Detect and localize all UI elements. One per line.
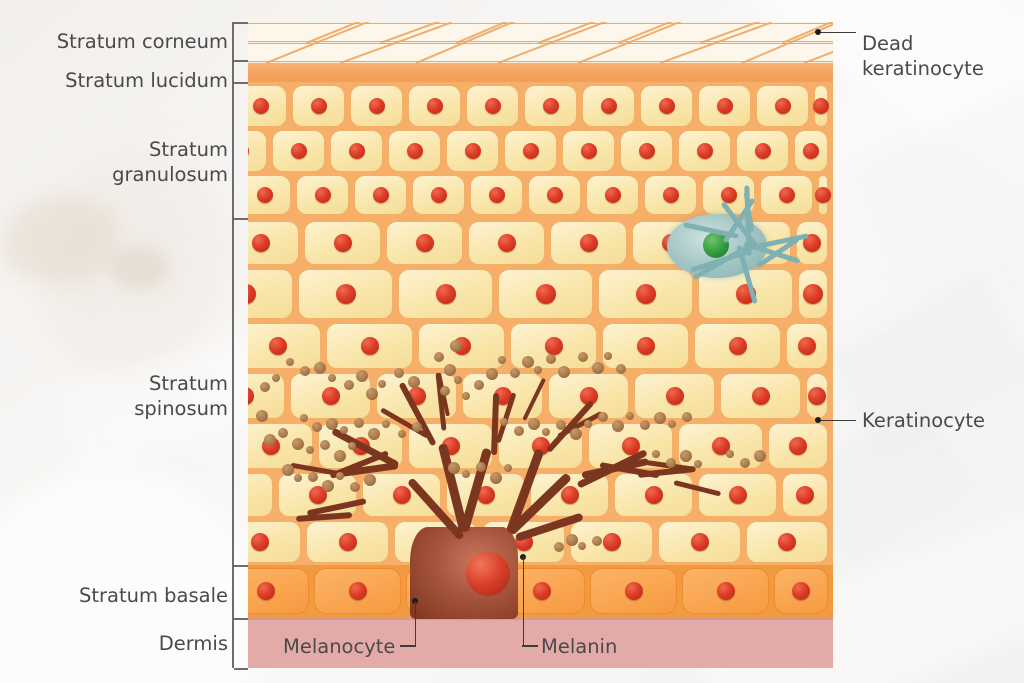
cell-nucleus: [253, 98, 269, 114]
cell-nucleus: [498, 234, 516, 252]
melanin-granule: [652, 450, 660, 458]
melanin-granule: [450, 340, 462, 352]
melanin-granule: [598, 412, 608, 422]
melanin-granule: [306, 446, 314, 454]
melanin-granule: [498, 356, 506, 364]
label-dermis: Dermis: [159, 631, 228, 656]
melanin-granule: [654, 412, 666, 424]
cell-nucleus: [407, 143, 423, 159]
melanin-granule: [356, 370, 368, 382]
callout-melanocyte: Melanocyte: [283, 634, 395, 659]
melanocyte-dendrite: [460, 448, 492, 533]
melanin-granule: [626, 412, 634, 420]
cell-nucleus: [336, 284, 356, 304]
bracket-dermis: [232, 618, 248, 668]
melanin-granule: [340, 426, 348, 434]
melanin-granule: [476, 462, 486, 472]
melanin-granule: [514, 426, 524, 436]
cell-nucleus: [523, 143, 539, 159]
melanin-granule: [334, 450, 346, 462]
cell-nucleus: [436, 284, 456, 304]
cell-nucleus: [543, 98, 559, 114]
melanin-granule: [668, 420, 676, 428]
melanin-granule: [604, 352, 612, 360]
melanin-granule: [378, 380, 386, 388]
bracket-stratum-lucidum: [232, 60, 248, 82]
melanin-granule: [314, 362, 326, 374]
cell-nucleus: [431, 187, 447, 203]
melanocyte-leader-vertical: [415, 601, 417, 646]
melanin-granule: [486, 368, 498, 380]
melanin-leader-vertical: [523, 557, 525, 645]
cell-nucleus: [349, 143, 365, 159]
melanin-granule: [300, 414, 308, 422]
melanin-granule: [286, 358, 294, 366]
melanin-granule: [336, 472, 344, 480]
keratinocyte-leader-line: [821, 420, 856, 422]
cell-nucleus: [369, 98, 385, 114]
keratinocyte: [248, 130, 267, 172]
melanocyte: [248, 322, 833, 622]
cell-nucleus: [536, 284, 556, 304]
melanin-granule: [326, 418, 338, 430]
melanin-granule: [666, 458, 676, 468]
melanin-granule: [754, 450, 766, 462]
melanin-granule: [546, 354, 556, 364]
label-stratum-lucidum: Stratum lucidum: [65, 68, 228, 93]
melanin-granule: [282, 464, 294, 476]
melanin-granule: [292, 438, 304, 450]
melanin-granule: [694, 460, 702, 468]
label-stratum-corneum: Stratum corneum: [57, 29, 228, 54]
cell-nucleus: [775, 98, 791, 114]
melanin-granule: [272, 374, 280, 382]
melanin-granule: [260, 382, 270, 392]
cell-nucleus: [427, 98, 443, 114]
melanin-granule: [584, 420, 592, 428]
melanin-granule: [264, 434, 276, 446]
callout-keratinocyte: Keratinocyte: [862, 408, 985, 433]
melanin-granule: [448, 462, 460, 474]
melanin-granule: [578, 352, 588, 362]
cell-nucleus: [291, 143, 307, 159]
melanin-granule: [278, 428, 288, 438]
bracket-stratum-corneum: [232, 22, 248, 60]
bracket-stratum-granulosum: [232, 82, 248, 218]
melanin-granule: [578, 542, 586, 550]
cell-nucleus: [813, 98, 829, 114]
melanin-leader-horizontal: [522, 645, 538, 647]
melanin-granule: [740, 458, 750, 468]
melanin-granule: [528, 418, 540, 430]
melanin-granule: [510, 368, 520, 378]
melanin-granule: [350, 482, 360, 492]
melanin-granule: [682, 412, 692, 422]
cell-nucleus: [601, 98, 617, 114]
melanocyte-dendrite: [296, 512, 352, 522]
melanin-granule: [368, 428, 380, 440]
melanin-granule: [462, 470, 470, 478]
melanin-granule: [726, 450, 734, 458]
melanin-granule: [444, 364, 456, 376]
melanin-granule: [366, 388, 378, 400]
melanin-granule: [454, 376, 462, 384]
cell-nucleus: [416, 234, 434, 252]
melanocyte-dendrite: [522, 378, 546, 421]
dead-keratinocyte-leader-line: [821, 32, 856, 34]
melanin-granule: [364, 474, 376, 486]
melanocyte-nucleus: [466, 552, 510, 596]
melanin-granule: [500, 418, 508, 426]
melanin-granule: [320, 440, 330, 450]
label-stratum-granulosum: Stratum granulosum: [112, 137, 228, 187]
melanin-granule: [616, 364, 626, 374]
bracket-stratum-spinosum: [232, 218, 248, 565]
melanin-granule: [566, 534, 578, 546]
melanin-granule: [542, 428, 550, 436]
melanin-granule: [474, 380, 484, 390]
cell-nucleus: [485, 98, 501, 114]
melanin-granule: [354, 418, 364, 428]
melanin-granule: [256, 410, 268, 422]
melanin-granule: [592, 536, 602, 546]
cell-nucleus: [334, 234, 352, 252]
melanin-granule: [408, 376, 420, 388]
cell-nucleus: [489, 187, 505, 203]
melanin-granule: [570, 428, 582, 440]
callout-melanin: Melanin: [541, 634, 617, 659]
melanin-granule: [534, 366, 542, 374]
melanocyte-dendrite: [673, 480, 721, 496]
cell-nucleus: [547, 187, 563, 203]
cell-nucleus: [465, 143, 481, 159]
melanin-granule: [322, 480, 334, 492]
melanin-granule: [504, 464, 512, 472]
melanin-granule: [398, 430, 406, 438]
melanin-granule: [640, 420, 650, 430]
cell-nucleus: [252, 234, 270, 252]
melanin-granule: [344, 380, 354, 390]
melanin-granule: [612, 420, 624, 432]
label-stratum-spinosum: Stratum spinosum: [134, 371, 228, 421]
epidermis-cross-section-diagram: [248, 22, 833, 668]
cell-nucleus: [311, 98, 327, 114]
melanin-granule: [382, 420, 390, 428]
melanin-granule: [394, 368, 404, 378]
melanin-granule: [680, 450, 692, 462]
melanin-granule: [300, 366, 310, 376]
melanin-granule: [294, 474, 302, 482]
melanin-granule: [348, 442, 356, 450]
melanin-granule: [558, 366, 570, 378]
melanin-granule: [328, 374, 336, 382]
callout-dead-keratinocyte: Dead keratinocyte: [862, 31, 984, 81]
melanin-granule: [440, 386, 450, 396]
melanin-granule: [462, 392, 470, 400]
melanin-granule: [522, 356, 534, 368]
melanin-granule: [556, 420, 566, 430]
label-stratum-basale: Stratum basale: [79, 583, 228, 608]
cell-nucleus: [659, 98, 675, 114]
cell-nucleus: [717, 98, 733, 114]
melanin-granule: [554, 542, 564, 552]
cell-nucleus: [315, 187, 331, 203]
melanin-granule: [434, 352, 444, 362]
cell-nucleus: [257, 187, 273, 203]
stratum-lucidum-layer: [248, 63, 833, 82]
melanin-granule: [308, 472, 318, 482]
melanin-granule: [592, 362, 604, 374]
melanocyte-leader-horizontal: [400, 645, 416, 647]
cell-nucleus: [373, 187, 389, 203]
melanin-granule: [490, 472, 502, 484]
bracket-stratum-basale: [232, 565, 248, 618]
melanin-granule: [312, 422, 322, 432]
melanin-granule: [412, 422, 422, 432]
background-blur-shape: [110, 245, 170, 290]
melanocyte-dendrite: [491, 393, 499, 455]
